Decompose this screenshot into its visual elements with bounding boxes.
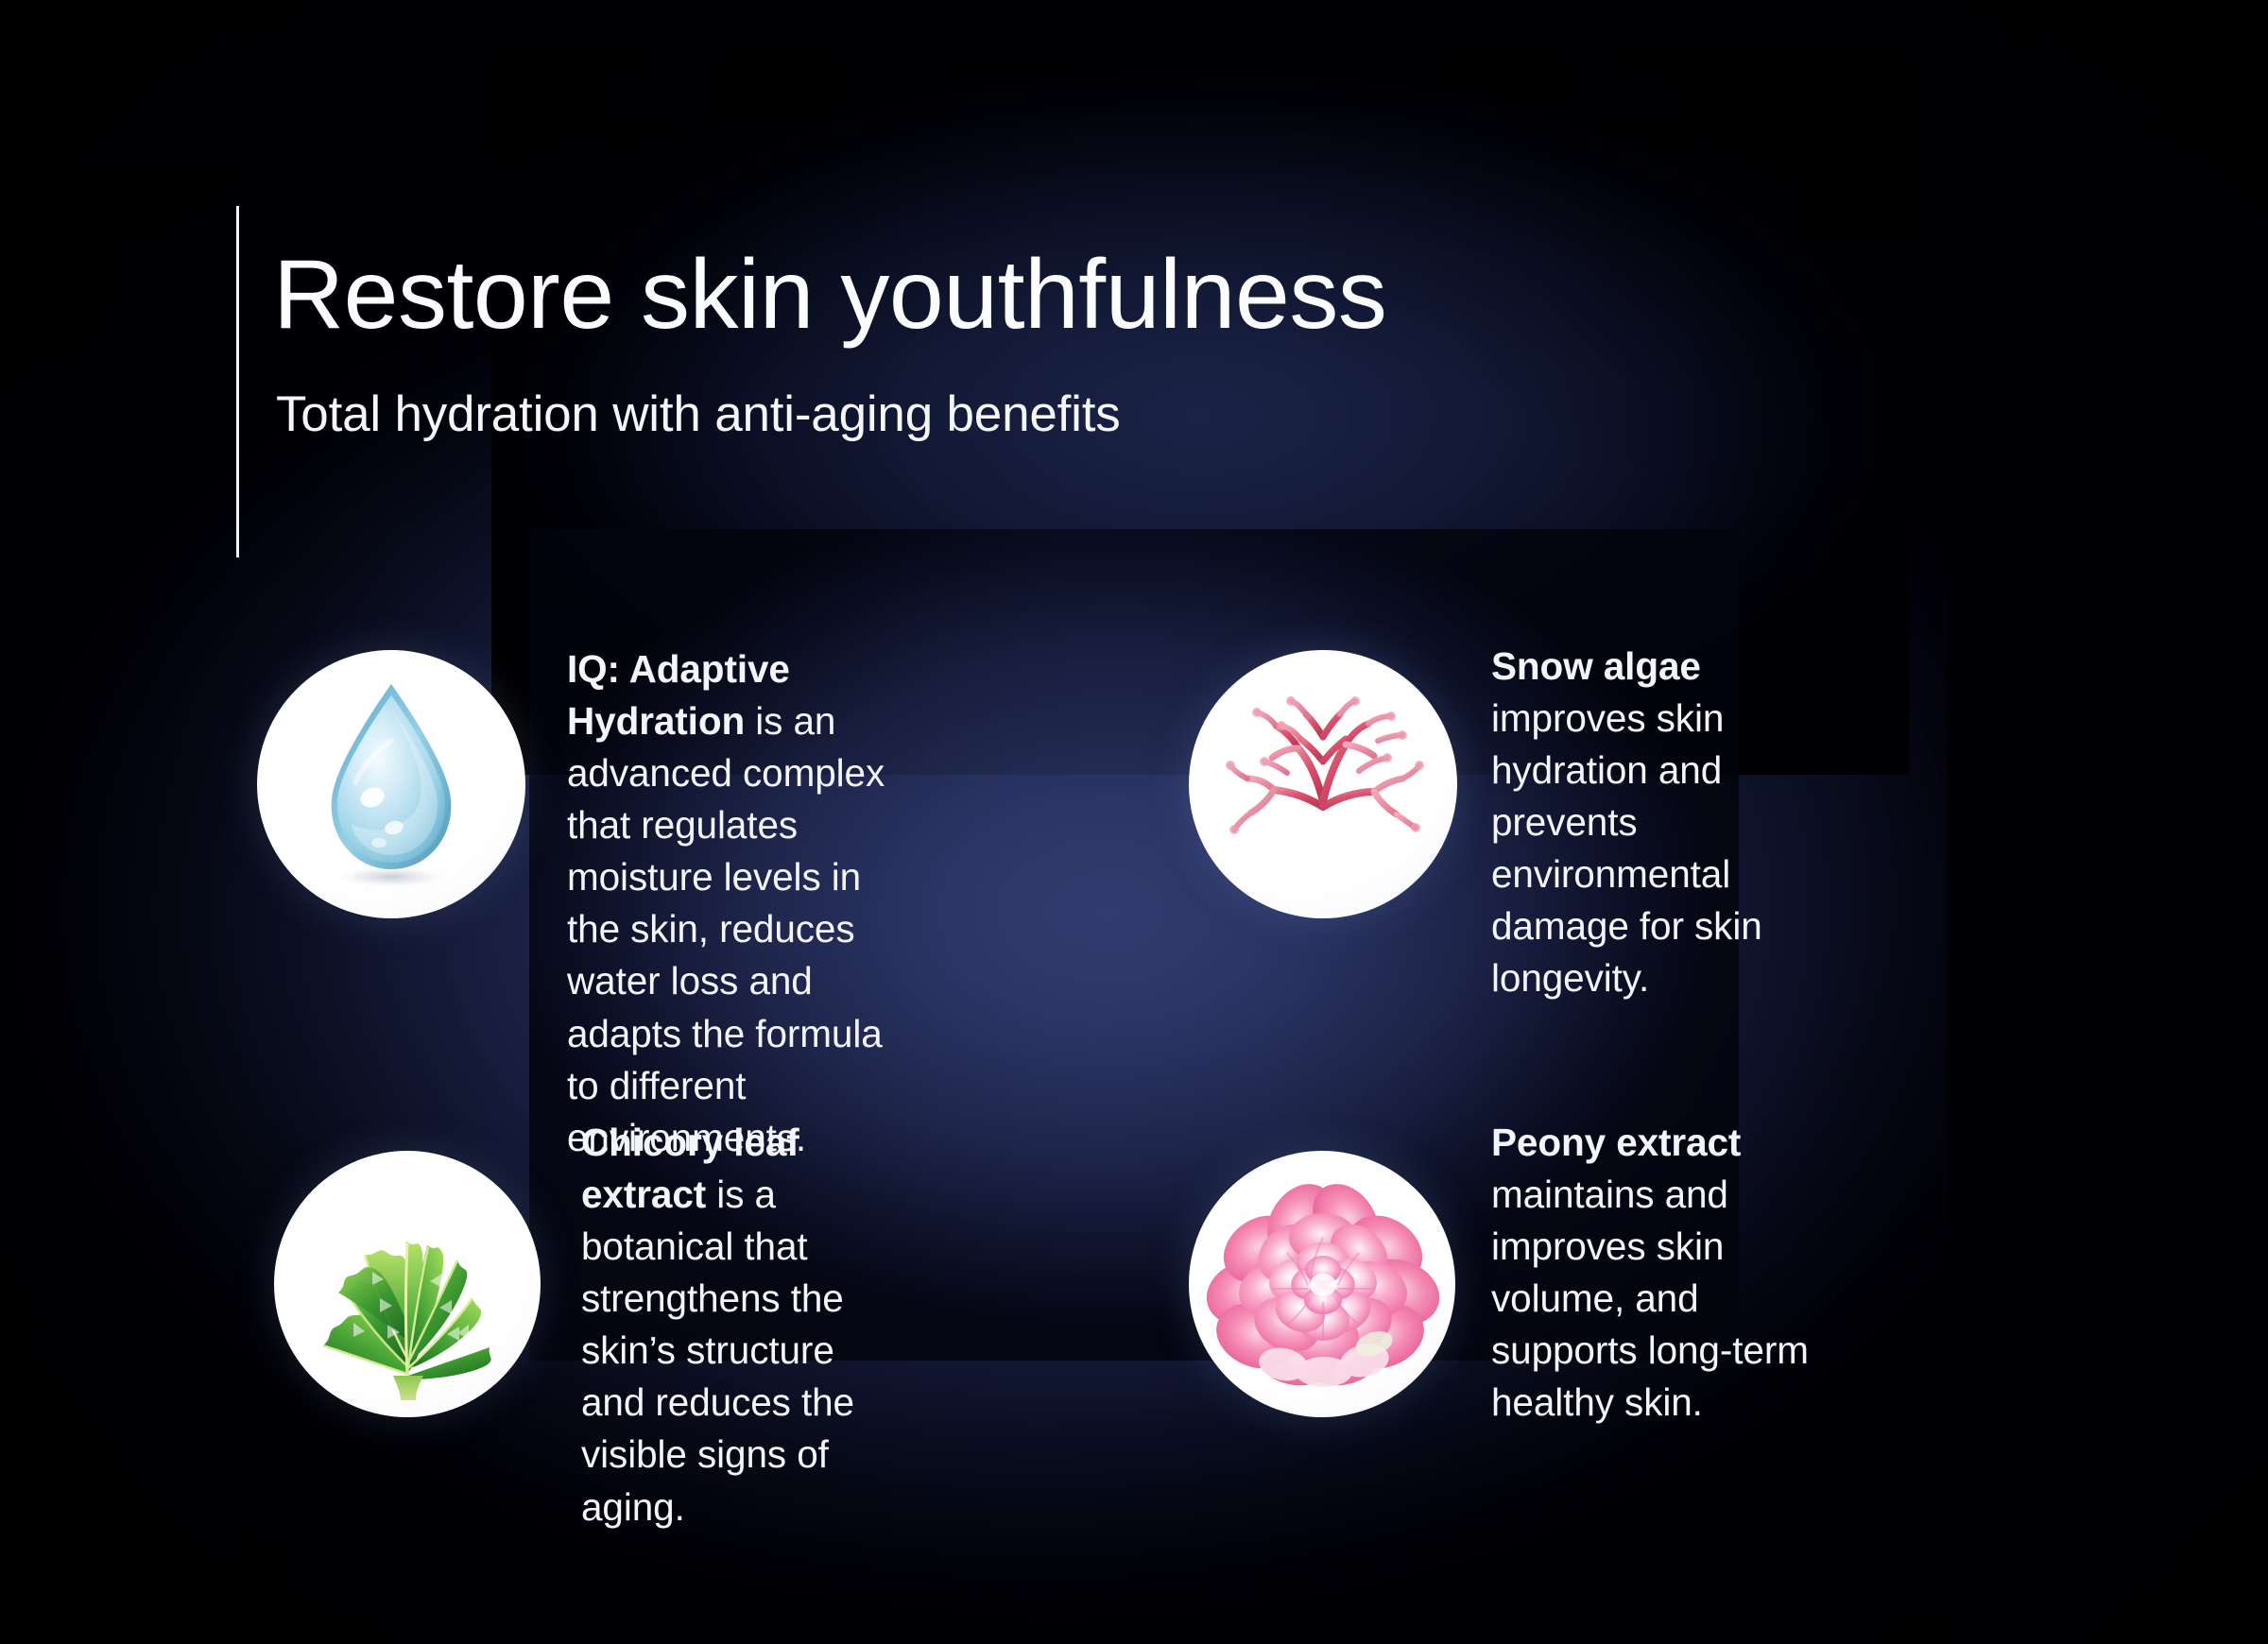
page-subtitle: Total hydration with anti-aging benefits [276, 387, 1882, 442]
snow-algae-icon [1189, 650, 1457, 918]
ingredient-heading: Peony extract [1491, 1121, 1741, 1164]
peony-flower-icon [1189, 1151, 1455, 1417]
ingredient-description: maintains and improves skin volume, and … [1491, 1173, 1809, 1424]
page-title: Restore skin youthfulness [273, 244, 1880, 347]
ingredient-badge [274, 1151, 541, 1417]
ingredient-badge [257, 650, 525, 918]
ingredient-badge [1189, 650, 1457, 918]
title-accent-rule [236, 206, 239, 557]
ingredient-text: IQ: Adaptive Hydration is an advanced co… [567, 643, 924, 1164]
ingredient-badge [1189, 1151, 1455, 1417]
ingredient-text: Snow algae improves skin hydration and p… [1491, 641, 1831, 1005]
ingredient-heading: Snow algae [1491, 644, 1701, 688]
chicory-leaf-icon [274, 1151, 541, 1417]
ingredient-text: Chicory leaf extract is a botanical that… [581, 1117, 902, 1533]
ingredient-description: is an advanced complex that regulates mo… [567, 699, 885, 1159]
ingredient-text: Peony extract maintains and improves ski… [1491, 1117, 1831, 1429]
ingredient-description: is a botanical that strengthens the skin… [581, 1173, 854, 1528]
ingredient-description: improves skin hydration and prevents env… [1491, 696, 1762, 1000]
ingredient-benefits-slide: Restore skin youthfulness Total hydratio… [0, 0, 2268, 1644]
water-drop-icon [257, 650, 525, 918]
